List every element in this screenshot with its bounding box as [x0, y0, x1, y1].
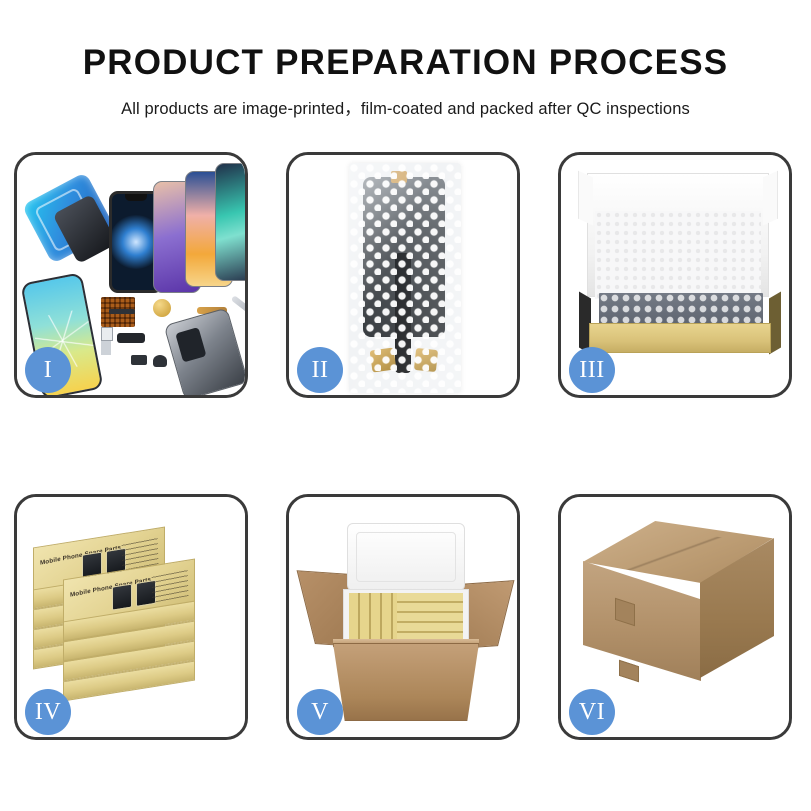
foam-liner-icon [595, 211, 761, 299]
bubble-wrap-bag [349, 163, 461, 393]
packed-yellow-boxes-row-2 [397, 593, 463, 641]
kraft-box-front-icon [589, 323, 771, 353]
plastic-sheen [349, 163, 461, 393]
process-step-2[interactable]: II [286, 152, 520, 398]
small-part-2-icon [131, 355, 147, 365]
carton-body [333, 643, 479, 721]
process-step-grid: I II [14, 152, 797, 740]
page-subtitle: All products are image-printed，film-coat… [0, 95, 811, 119]
gold-coin-part-icon [153, 299, 171, 317]
step-badge-3: III [569, 347, 615, 393]
flex-cable-2-part-icon [117, 333, 145, 343]
step-badge-4: IV [25, 689, 71, 735]
phone-teal-icon [215, 163, 245, 281]
step-badge-5: V [297, 689, 343, 735]
step-badge-6: VI [569, 689, 615, 735]
step-badge-2: II [297, 347, 343, 393]
process-step-6[interactable]: VI [558, 494, 792, 740]
small-part-4-icon [101, 341, 111, 355]
page-title: PRODUCT PREPARATION PROCESS [0, 44, 811, 83]
carton-tape-lower [619, 660, 639, 682]
bubble-wrap-layer-icon [599, 293, 763, 327]
speaker-bar-part-icon [109, 309, 135, 314]
box-product-image-3 [112, 584, 132, 611]
process-step-1[interactable]: I [14, 152, 248, 398]
box-spec-lines-front [152, 568, 189, 603]
process-step-5[interactable]: V [286, 494, 520, 740]
product-preparation-infographic: PRODUCT PREPARATION PROCESS All products… [0, 0, 811, 811]
small-part-1-icon [101, 327, 113, 341]
step-badge-1: I [25, 347, 71, 393]
small-part-3-icon [153, 355, 167, 367]
foam-box-lid-icon [347, 523, 465, 591]
process-step-4[interactable]: Mobile Phone Spare Parts Mobi [14, 494, 248, 740]
process-step-3[interactable]: III [558, 152, 792, 398]
header: PRODUCT PREPARATION PROCESS All products… [0, 0, 811, 119]
